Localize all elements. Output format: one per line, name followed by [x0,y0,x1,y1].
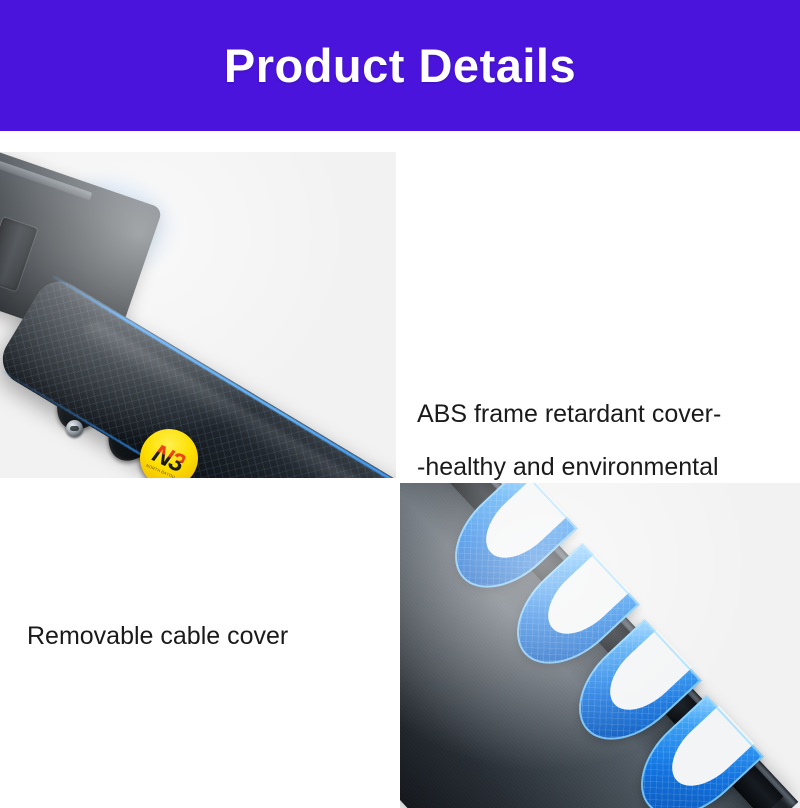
blue-cable-clips-photo [400,483,800,808]
tv-mount-arm-photo: N3 NORTH BAYOU [0,152,396,478]
plate-slot [0,217,38,291]
page-title: Product Details [224,42,576,89]
cable-cover-caption: Removable cable cover [0,483,396,808]
product-details-banner: Product Details [0,0,800,131]
caption-line: ABS frame retardant cover- [417,388,791,441]
caption-line: Removable cable cover [27,622,288,651]
screw-icon [66,420,83,437]
blue-clip-row [400,483,800,808]
section-abs-frame: N3 NORTH BAYOU ABS frame retardant cover… [0,152,800,478]
